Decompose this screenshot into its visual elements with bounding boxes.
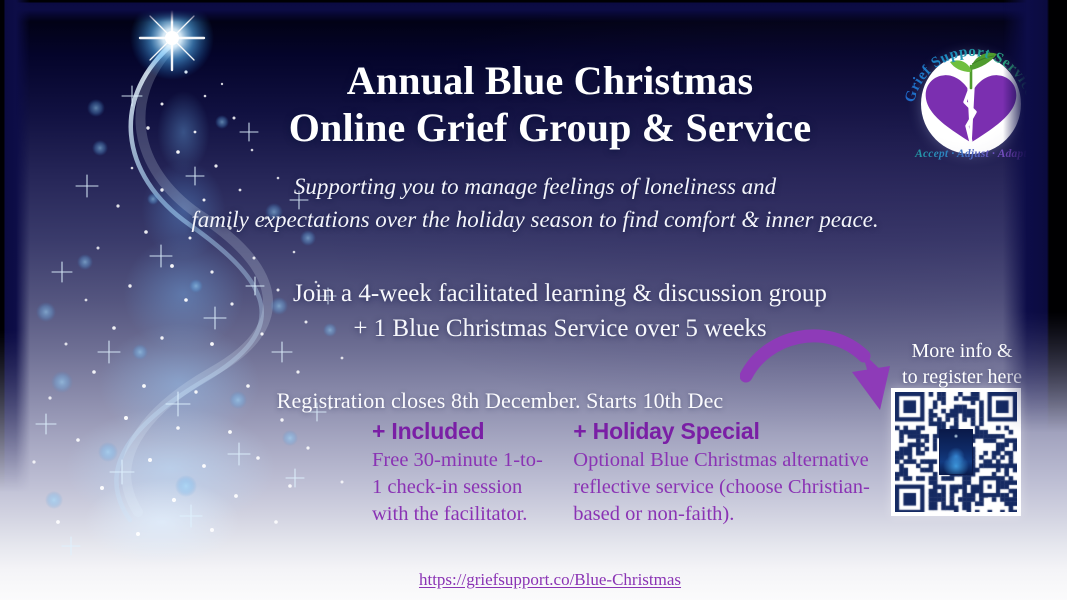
qr-center-tree-image [939, 429, 973, 475]
registration-link[interactable]: https://griefsupport.co/Blue-Christmas [270, 570, 830, 590]
logo: Grief Support Services Accept · Adjust ·… [905, 30, 1037, 172]
poster-canvas: Annual Blue Christmas Online Grief Group… [0, 0, 1067, 600]
qr-code[interactable] [891, 388, 1021, 516]
logo-tagline: Accept · Adjust · Adapt [905, 148, 1037, 160]
offers-section: + Included Free 30-minute 1-to-1 check-i… [372, 418, 872, 527]
offer-holiday-special-heading: + Holiday Special [573, 418, 872, 444]
page-title-line-1: Annual Blue Christmas [205, 57, 895, 104]
broken-heart-left-half-icon [925, 74, 971, 144]
program-description-line-1: Join a 4-week facilitated learning & dis… [210, 277, 910, 312]
offer-included-body: Free 30-minute 1-to-1 check-in session w… [372, 447, 547, 527]
offer-included-heading: + Included [372, 418, 547, 444]
offer-included: + Included Free 30-minute 1-to-1 check-i… [372, 418, 547, 527]
offer-holiday-special-body: Optional Blue Christmas alternative refl… [573, 447, 872, 527]
poster-content: Annual Blue Christmas Online Grief Group… [0, 0, 1067, 600]
broken-heart-right-half-icon [972, 74, 1018, 144]
page-title-line-2: Online Grief Group & Service [205, 104, 895, 151]
page-title: Annual Blue Christmas Online Grief Group… [205, 57, 895, 151]
subtitle-line-2: family expectations over the holiday sea… [120, 204, 950, 237]
offer-holiday-special: + Holiday Special Optional Blue Christma… [573, 418, 872, 527]
subtitle-line-1: Supporting you to manage feelings of lon… [120, 171, 950, 204]
subtitle: Supporting you to manage feelings of lon… [120, 171, 950, 236]
curved-arrow-icon [740, 322, 910, 417]
